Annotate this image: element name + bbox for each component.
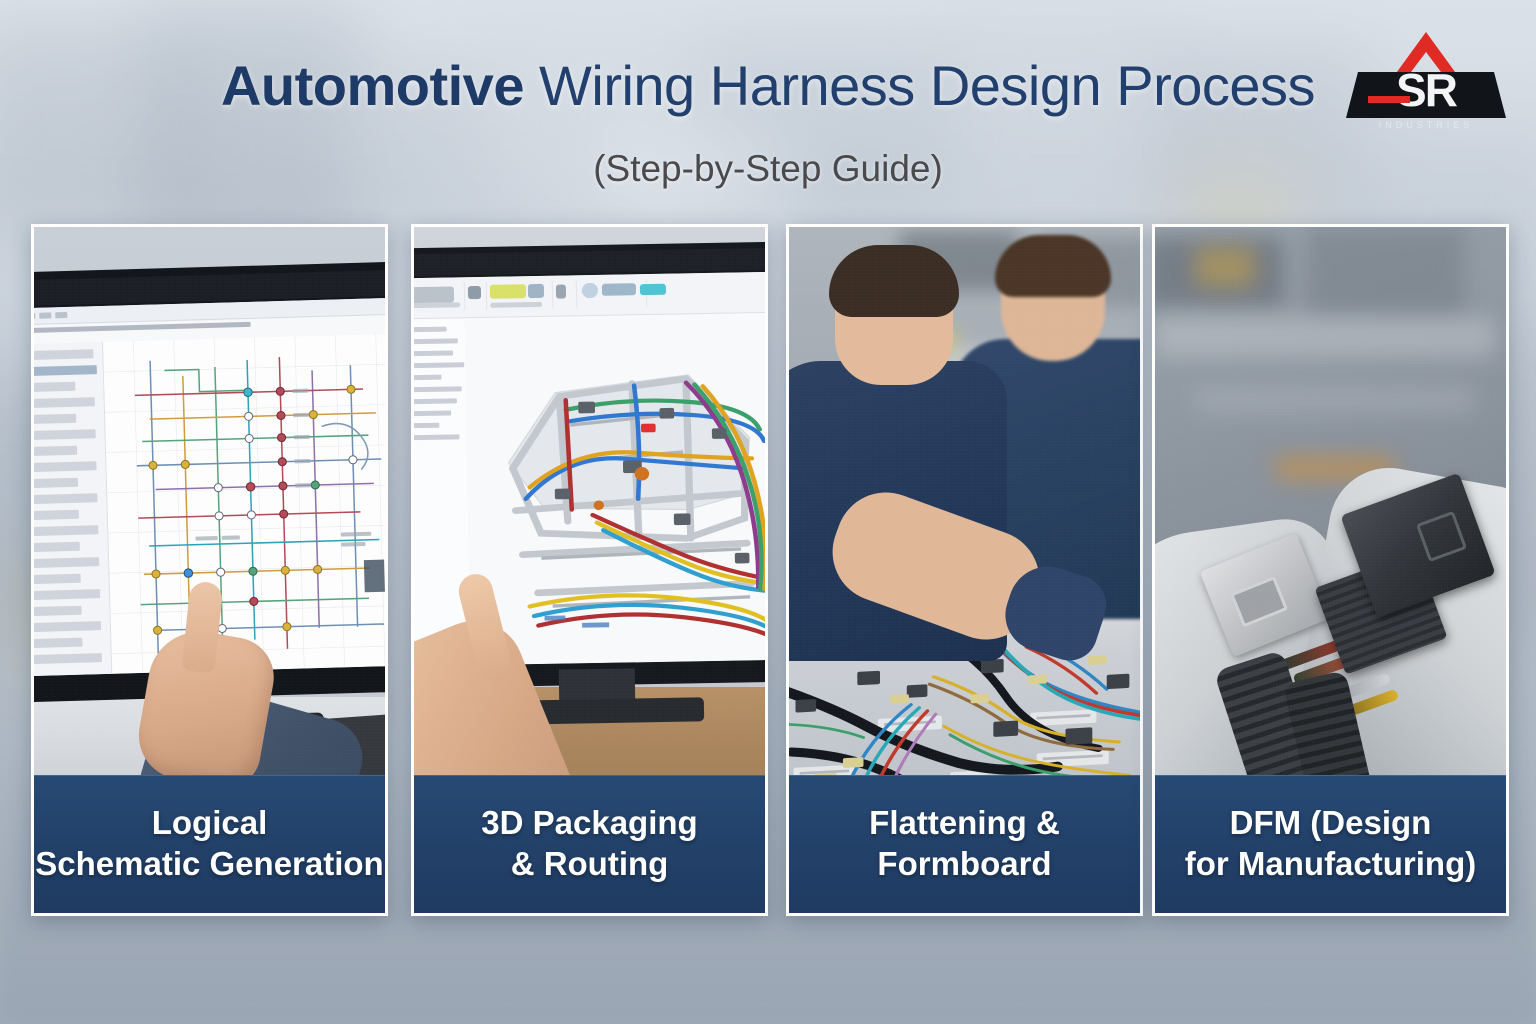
panel-1-schematic-canvas [103, 334, 385, 674]
panel-2-caption-line2: & Routing [511, 844, 669, 885]
page-subtitle: (Step-by-Step Guide) [0, 148, 1536, 190]
panel-1-app-sidebar [34, 342, 112, 676]
panel-4-caption: DFM (Design for Manufacturing) [1155, 775, 1506, 913]
panel-2-caption-line1: 3D Packaging [481, 803, 697, 844]
process-step-card-2[interactable]: 3D Packaging & Routing [411, 224, 768, 916]
panel-2-3d-viewport [464, 314, 765, 665]
process-step-card-3[interactable]: Flattening & Formboard [786, 224, 1143, 916]
logo-wordmark: INDUSTRIES [1379, 120, 1474, 130]
logo-accent-bar [1368, 96, 1410, 103]
panel-1-caption-line2: Schematic Generation [35, 844, 383, 885]
logo-mark-text: SR [1396, 64, 1458, 116]
panel-2-cad-ribbon [414, 272, 765, 319]
panel-1-caption: Logical Schematic Generation [34, 775, 385, 913]
panel-4-caption-line2: for Manufacturing) [1185, 844, 1476, 885]
panel-3-caption-line1: Flattening & [869, 803, 1060, 844]
panel-4-caption-line1: DFM (Design [1230, 803, 1432, 844]
panel-3-caption: Flattening & Formboard [789, 775, 1140, 913]
panel-1-caption-line1: Logical [152, 803, 268, 844]
panel-3-worker1-hair [829, 245, 959, 317]
page-title-strong: Automotive [221, 54, 524, 117]
panel-2-model-tree [414, 319, 470, 666]
panel-3-caption-line2: Formboard [877, 844, 1051, 885]
page-title-rest: Wiring Harness Design Process [524, 54, 1315, 117]
logo-svg: SR INDUSTRIES [1340, 14, 1512, 136]
panel-2-caption: 3D Packaging & Routing [414, 775, 765, 913]
page-title: Automotive Wiring Harness Design Process [0, 58, 1536, 114]
panel-3-worker-foreground [789, 251, 1021, 721]
header: Automotive Wiring Harness Design Process… [0, 0, 1536, 212]
sr-industries-logo: SR INDUSTRIES [1340, 14, 1512, 136]
process-step-card-4[interactable]: DFM (Design for Manufacturing) [1152, 224, 1509, 916]
process-step-card-1[interactable]: Logical Schematic Generation [31, 224, 388, 916]
